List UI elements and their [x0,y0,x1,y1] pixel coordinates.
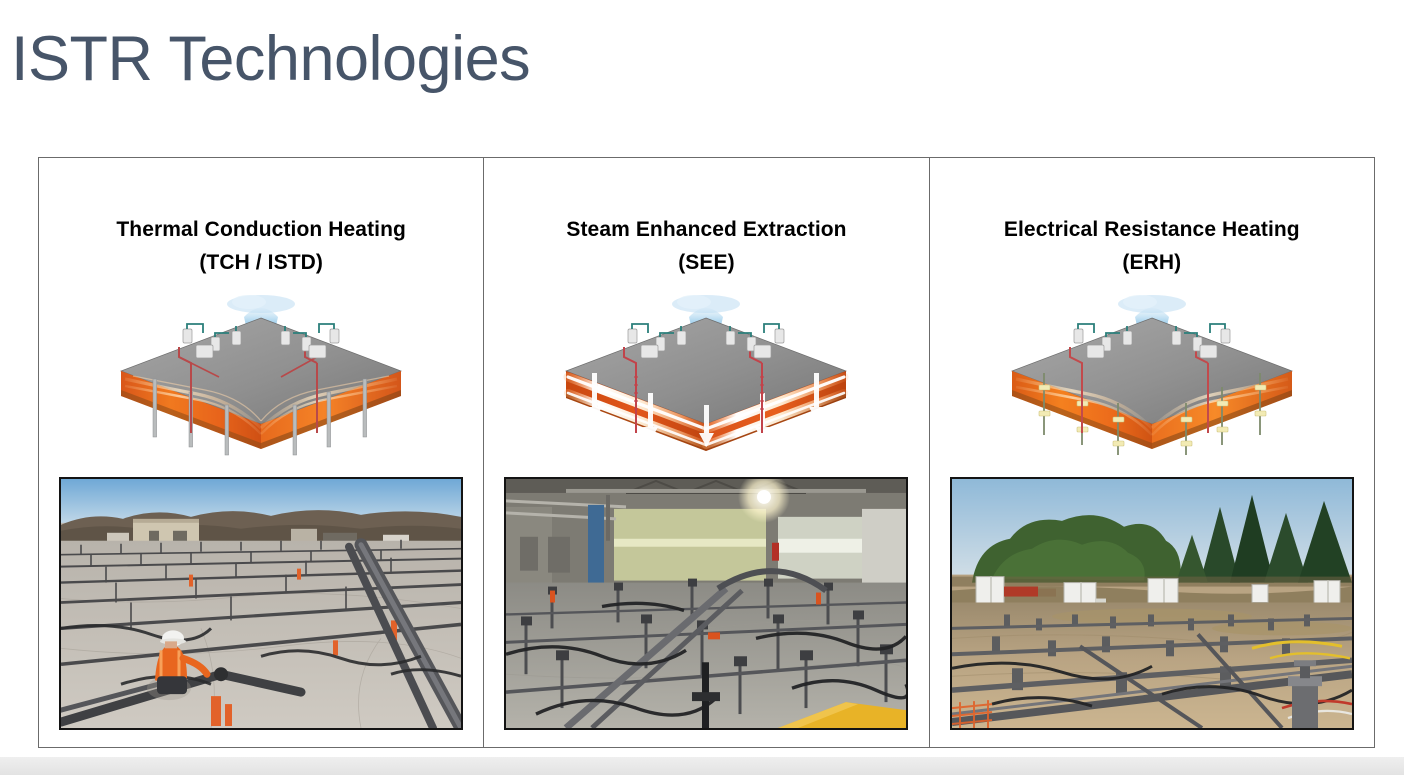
table-column-see: Steam Enhanced Extraction (SEE) [483,158,928,747]
slide-bottom-strip [0,757,1404,775]
see-block-diagram [556,293,856,461]
tch-block-diagram [111,293,411,461]
column-heading-tch-line1: Thermal Conduction Heating [116,218,406,241]
page-title: ISTR Technologies [11,26,530,92]
table-column-erh: Electrical Resistance Heating (ERH) [929,158,1374,747]
column-heading-erh: Electrical Resistance Heating (ERH) [1004,214,1300,279]
column-heading-erh-line1: Electrical Resistance Heating [1004,218,1300,241]
technologies-table: Thermal Conduction Heating (TCH / ISTD) [38,157,1375,748]
column-heading-tch-line2: (TCH / ISTD) [116,247,406,280]
column-heading-tch: Thermal Conduction Heating (TCH / ISTD) [116,214,406,279]
tch-site-photo [59,477,463,730]
slide-canvas: ISTR Technologies Thermal Conduction Hea… [0,0,1404,775]
column-heading-erh-line2: (ERH) [1004,247,1300,280]
column-heading-see-line1: Steam Enhanced Extraction [566,218,846,241]
see-site-photo [504,477,908,730]
erh-site-photo [950,477,1354,730]
column-heading-see-line2: (SEE) [566,247,846,280]
column-heading-see: Steam Enhanced Extraction (SEE) [566,214,846,279]
erh-block-diagram [1002,293,1302,461]
table-column-tch: Thermal Conduction Heating (TCH / ISTD) [39,158,483,747]
